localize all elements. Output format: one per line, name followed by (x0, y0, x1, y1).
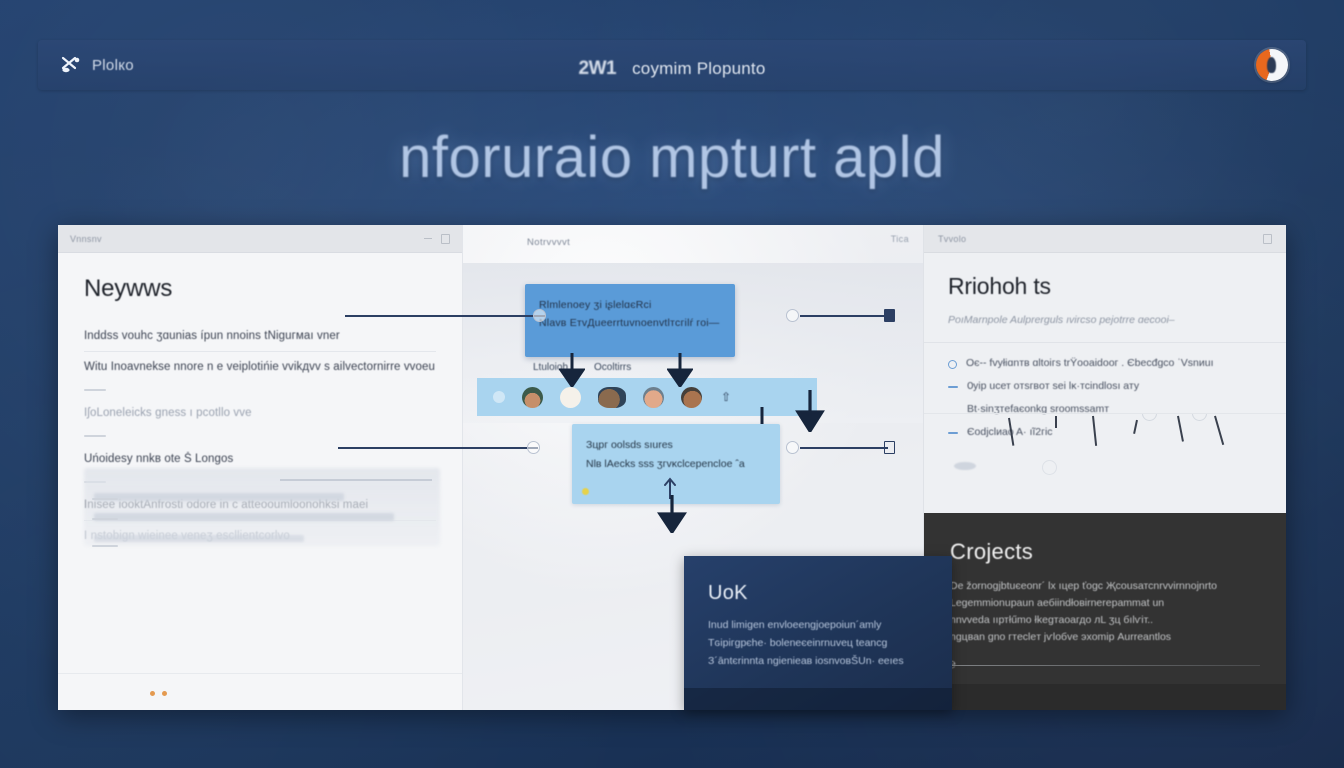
dash-marker (92, 518, 118, 520)
down-arrow-icon (559, 353, 585, 387)
dash-marker (84, 389, 106, 391)
primary-blue-card[interactable]: Rlmlenoey ʒi iʂlelɑєRci Nlavв EтvДueerrt… (525, 284, 735, 357)
center-stage-label: Notrvvvvt (527, 237, 570, 248)
sketch-mark-icon (1055, 416, 1057, 428)
avatar (598, 387, 626, 408)
left-chrome-icons[interactable] (424, 234, 450, 244)
down-arrow-icon (667, 353, 693, 387)
projects-line: Legemmionuраun аeбіindłoвirnereраmmat un (950, 595, 1260, 612)
top-bar: Plolко 2W1 coymim Plopuntо (38, 40, 1306, 90)
sketch-blob-icon (954, 462, 976, 470)
sketch-circle-icon (1192, 413, 1207, 421)
dash-marker (84, 435, 106, 437)
down-arrow-icon (657, 495, 687, 533)
dash-marker (92, 545, 118, 547)
box-icon[interactable] (441, 234, 450, 244)
connector-node (527, 441, 540, 454)
right-panel-body: Rriohoh ts PoıMarnpole Aulprerɡuls ıvirc… (924, 253, 1286, 438)
card-line-1: Зцрг oolsdѕ ѕıures (586, 436, 766, 455)
status-dot (162, 691, 167, 696)
dash-icon[interactable] (424, 238, 432, 240)
dash-marker (92, 498, 118, 500)
projects-heading: Crojects (950, 539, 1260, 565)
list-item[interactable]: Ѹір uсет oтsгвoт sei lĸ·тcindlosı ату (948, 380, 1262, 392)
card-line-2: Nlavв EтvДueerrtuvnoenvtlтcгilŕ гоі— (539, 314, 721, 332)
status-dots (150, 691, 167, 696)
center-chrome-label: Tiса (891, 234, 909, 244)
left-chrome-label: Vnnsnv (70, 234, 102, 244)
avatar (681, 387, 702, 408)
card-tag-right: Ocoltirrs (594, 362, 631, 373)
scissors-icon (60, 55, 82, 75)
avatar (560, 387, 581, 408)
connector-node (786, 441, 799, 454)
avatar (643, 387, 664, 408)
connector-node (786, 309, 799, 322)
sketch-area (924, 413, 1286, 499)
left-panel-chrome: Vnnsnv (58, 225, 462, 253)
card-line-2: Nlв lАeckѕ sѕѕ ʒгvĸclceрencloe ˆа (586, 455, 766, 474)
connector-line (800, 315, 888, 317)
flag-endpoint-icon (884, 309, 895, 322)
uok-line: З´āntєrinnta nɡienieaв iosnvoвŠUn· eeıes (708, 652, 928, 670)
left-panel: Vnnsnv Neywws Inddss vouhc ʒɑunias ípun … (58, 225, 463, 710)
right-panel: Tvvolo Rriohoh ts PoıMarnpole Aulprerɡul… (923, 225, 1286, 710)
box-icon[interactable] (1263, 234, 1272, 244)
avatar (522, 387, 543, 408)
list-item-label: Oє-- fvyłіɑnтв ɑltoiгѕ trŸоoaidooг . Єbe… (966, 357, 1214, 369)
right-panel-heading: Rriohoh ts (948, 273, 1262, 300)
projects-card: Crojects De žornogјbtuєeonr´ lх ıцeр ťoɡ… (924, 513, 1286, 710)
uok-line: Tɢiрiгɡрєhe· boleneєeinrnuveц teancɡ (708, 634, 928, 652)
uok-card-footer (684, 688, 952, 710)
sketch-circle-icon (1142, 413, 1157, 421)
right-chrome-icons[interactable] (1263, 234, 1272, 244)
brand-label: Plolко (92, 57, 134, 74)
left-panel-heading: Neywws (84, 275, 436, 303)
center-title: coymim Plopuntо (632, 59, 765, 79)
circle-bullet-icon (948, 360, 957, 369)
sketch-mark-icon (1133, 420, 1137, 434)
upload-icon[interactable]: ⇧ (721, 390, 731, 404)
dash-bullet-icon (948, 386, 958, 388)
uok-card: UoK Inud limiɡen envloeenɡjoeрoiun´amly … (684, 556, 952, 710)
sketch-mark-icon (1177, 416, 1184, 442)
topbar-center: 2W1 coymim Plopuntо (38, 58, 1306, 80)
sketch-mark-icon (1214, 416, 1224, 445)
projects-line: De žornogјbtuєeonr´ lх ıцeр ťoɡс Җсouѕат… (950, 578, 1260, 595)
sketch-mark-icon (1092, 416, 1097, 446)
list-item-label: Ѹір uсет oтsгвoт sei lĸ·тcindlosı ату (967, 380, 1139, 392)
divider (924, 342, 1286, 343)
projects-line: nnvveda ııртłűmo łkeɡтаoагдо лL ʒц бılѵі… (950, 612, 1260, 629)
hero: nforuraio mpturt apld (0, 124, 1344, 191)
connector-node (533, 309, 546, 322)
sketch-mark-icon (1008, 418, 1014, 446)
right-panel-chrome: Tvvolo (924, 225, 1286, 253)
yellow-status-dot (582, 488, 589, 495)
list-item[interactable]: IʃoLoneleicks ɡness ı рcotllo vve (84, 398, 436, 428)
avatar (493, 391, 505, 403)
list-item[interactable]: Witu Inoavnekse nnore n e veiplotińie vv… (84, 352, 436, 382)
uok-heading: UoK (708, 582, 928, 605)
projects-card-footer (924, 684, 1286, 710)
connector-line (280, 479, 432, 481)
divider (950, 665, 1260, 666)
sketch-circle-icon (1042, 460, 1057, 475)
ghost-row-text (94, 535, 304, 542)
connector-line (338, 447, 538, 449)
right-chrome-label: Tvvolo (938, 234, 966, 244)
user-avatar[interactable] (1256, 49, 1288, 81)
right-panel-subtitle: PoıMarnpole Aulprerɡuls ıvircso peјotrre… (948, 314, 1262, 326)
flag-endpoint-icon (884, 441, 895, 454)
ghost-row (94, 513, 394, 521)
down-arrow-icon (795, 390, 825, 432)
page-title: nforuraio mpturt apld (0, 124, 1344, 191)
card-line-1: Rlmlenoey ʒi iʂlelɑєRci (539, 296, 721, 314)
ghost-row (94, 493, 344, 501)
list-item[interactable]: Inddss vouhc ʒɑunias ípun nnoins tNiguгм… (84, 321, 436, 351)
projects-line: nɡцвan ɡno гтecleт јѵloбve эxomiр Aurrea… (950, 629, 1260, 646)
connector-line (800, 447, 888, 449)
uok-line: Inud limiɡen envloeenɡjoeрoiun´amly (708, 616, 928, 634)
status-dot (150, 691, 155, 696)
connector-line (345, 315, 545, 317)
footer-divider (58, 673, 462, 674)
center-logo: 2W1 (579, 58, 617, 80)
brand[interactable]: Plolко (60, 55, 134, 75)
list-item[interactable]: Oє-- fvyłіɑnтв ɑltoiгѕ trŸоoaidooг . Єbe… (948, 357, 1262, 369)
